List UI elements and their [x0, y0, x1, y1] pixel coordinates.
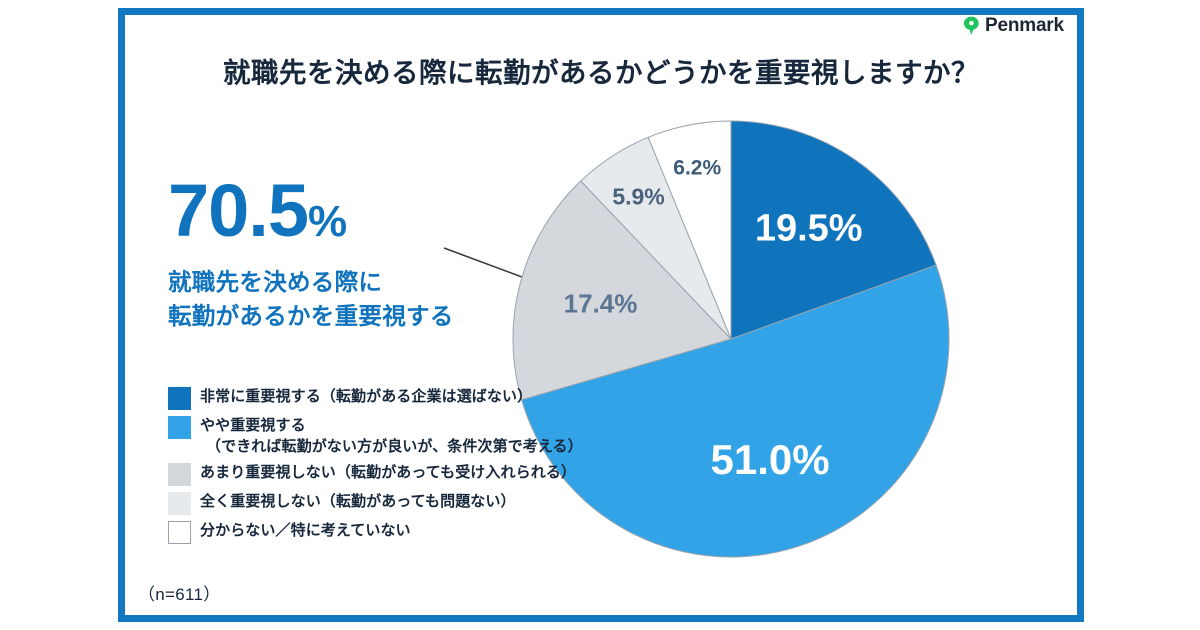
pie-slice-label: 51.0%: [711, 436, 830, 483]
legend-label: やや重要視する（できれば転勤がない方が良いが、条件次第で考える）: [200, 415, 583, 457]
legend-label: 分からない／特に考えていない: [200, 520, 411, 541]
callout-subtitle-line2: 転勤があるかを重要視する: [168, 299, 498, 333]
page-title: 就職先を決める際に転勤があるかどうかを重要視しますか？: [128, 50, 1074, 90]
infographic-canvas: Penmark 就職先を決める際に転勤があるかどうかを重要視しますか？ 70.5…: [0, 0, 1200, 630]
sample-size-note: （n=611）: [138, 580, 221, 605]
legend-swatch: [168, 387, 191, 410]
legend-swatch: [168, 492, 191, 515]
callout-unit: %: [308, 197, 346, 246]
legend-swatch: [168, 463, 191, 486]
legend-item[interactable]: やや重要視する（できれば転勤がない方が良いが、条件次第で考える）: [168, 415, 568, 457]
legend-label: あまり重要視しない（転勤があっても受け入れられる）: [200, 462, 576, 483]
legend-item[interactable]: 非常に重要視する（転勤がある企業は選ばない）: [168, 386, 568, 410]
legend-swatch: [168, 521, 191, 544]
chart-legend: 非常に重要視する（転勤がある企業は選ばない）やや重要視する（できれば転勤がない方…: [168, 386, 568, 549]
brand-name: Penmark: [985, 16, 1064, 35]
legend-item[interactable]: あまり重要視しない（転勤があっても受け入れられる）: [168, 462, 568, 486]
pie-slice-label: 19.5%: [755, 207, 863, 249]
pie-slice-label: 17.4%: [564, 289, 638, 319]
legend-label: 非常に重要視する（転勤がある企業は選ばない）: [200, 386, 532, 407]
legend-item[interactable]: 分からない／特に考えていない: [168, 520, 568, 544]
pie-slice-label: 5.9%: [612, 183, 664, 209]
legend-swatch: [168, 416, 191, 439]
legend-label-line2: （できれば転勤がない方が良いが、条件次第で考える）: [200, 436, 583, 457]
legend-label: 全く重要視しない（転勤があっても問題ない）: [200, 491, 516, 512]
pin-bubble-icon: [963, 16, 980, 35]
pie-slice-label: 6.2%: [673, 156, 721, 179]
brand-logo: Penmark: [963, 16, 1064, 35]
legend-item[interactable]: 全く重要視しない（転勤があっても問題ない）: [168, 491, 568, 515]
callout-number: 70.5: [168, 169, 308, 252]
pie-chart: 19.5%51.0%17.4%5.9%6.2%: [505, 113, 957, 565]
